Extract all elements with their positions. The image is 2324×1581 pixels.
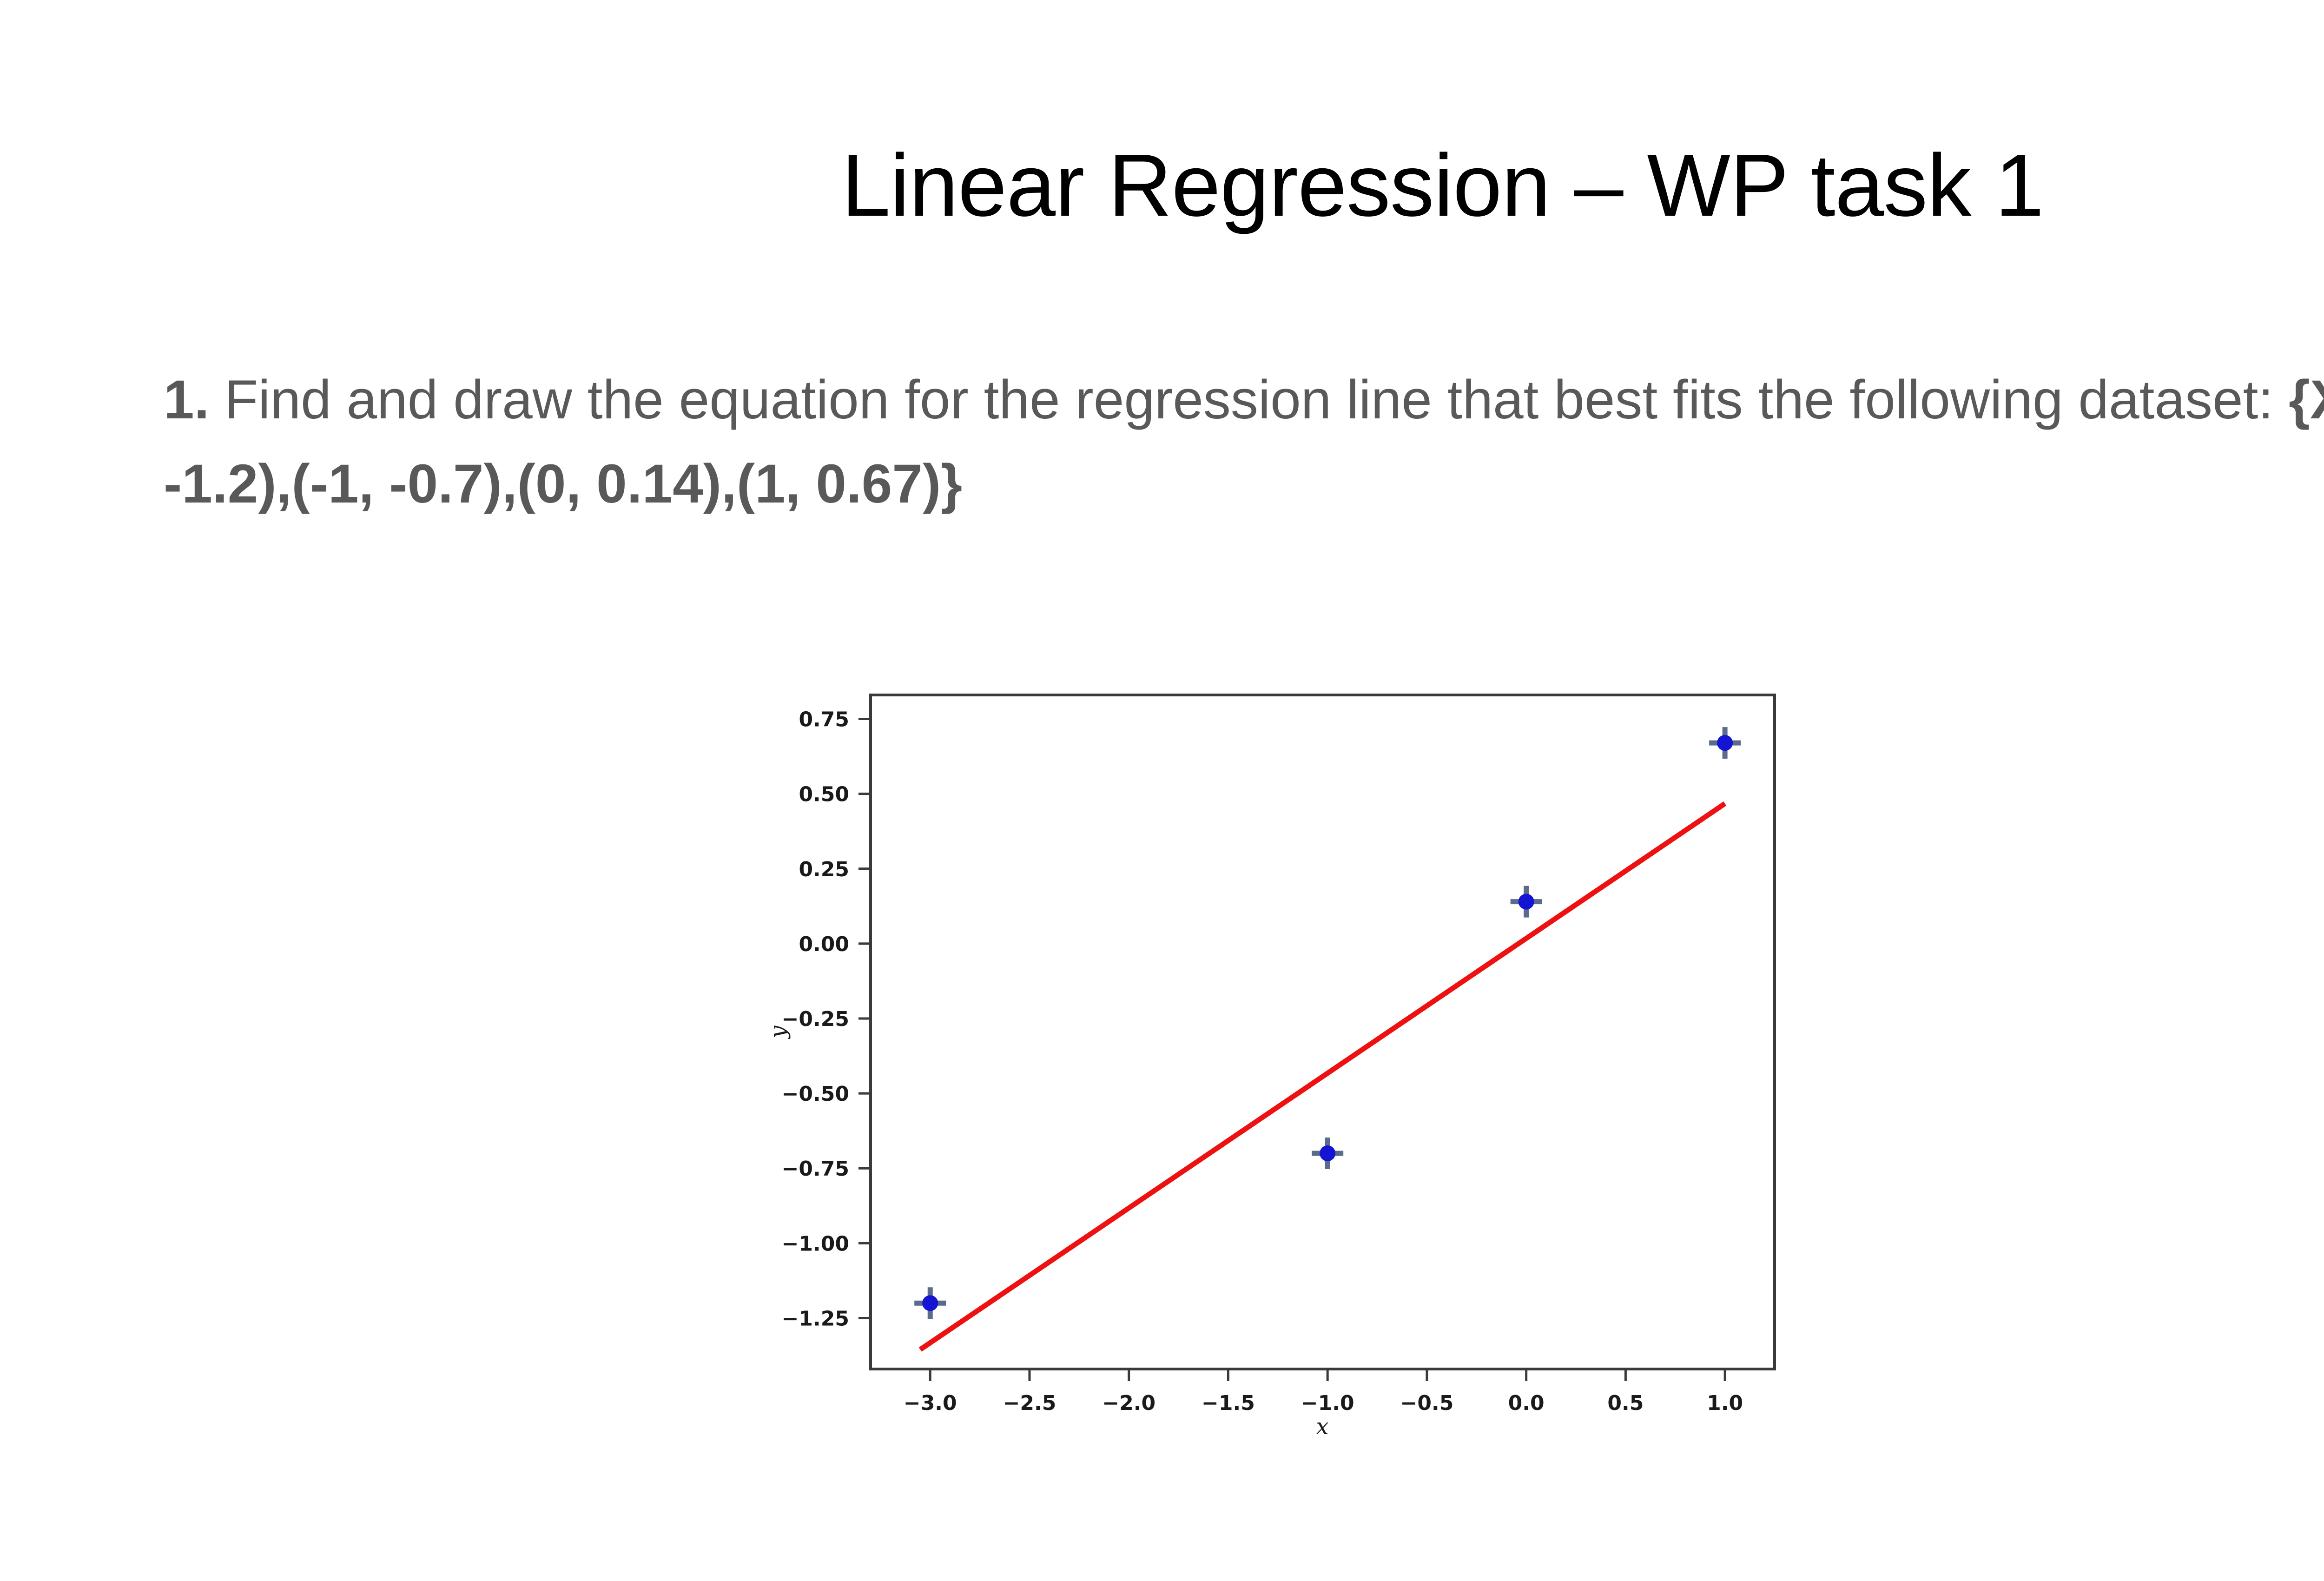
x-tick-label: −1.5	[1202, 1391, 1255, 1415]
x-tick-label: −0.5	[1400, 1391, 1454, 1415]
x-tick-label: 0.5	[1607, 1391, 1644, 1415]
y-tick-label: −0.75	[782, 1157, 849, 1181]
data-point-dot	[1717, 735, 1733, 751]
chart-background	[725, 660, 1841, 1450]
y-tick-label: −1.25	[782, 1307, 849, 1330]
task-instruction: Find and draw the equation for the regre…	[209, 369, 2289, 430]
slide-body-text: 1. Find and draw the equation for the re…	[164, 358, 2324, 526]
x-tick-label: 1.0	[1707, 1391, 1743, 1415]
y-tick-label: 0.50	[799, 783, 849, 807]
page-title: Linear Regression – WP task 1	[0, 139, 2324, 232]
y-tick-label: −1.00	[782, 1232, 849, 1256]
x-axis-label: x	[1316, 1414, 1328, 1440]
data-point-dot	[1320, 1145, 1335, 1161]
regression-chart: −3.0−2.5−2.0−1.5−1.0−0.50.00.51.0 0.750.…	[725, 660, 1841, 1450]
task-number: 1.	[164, 369, 209, 430]
x-tick-label: 0.0	[1508, 1391, 1545, 1415]
y-tick-label: 0.75	[799, 708, 849, 732]
data-point-dot	[1519, 894, 1534, 910]
data-point-dot	[922, 1295, 938, 1311]
x-tick-label: −1.0	[1301, 1391, 1354, 1415]
y-tick-label: 0.25	[799, 858, 849, 881]
y-tick-label: −0.50	[782, 1082, 849, 1106]
x-tick-label: −3.0	[904, 1391, 957, 1415]
x-tick-label: −2.5	[1003, 1391, 1056, 1415]
regression-chart-svg: −3.0−2.5−2.0−1.5−1.0−0.50.00.51.0 0.750.…	[725, 660, 1841, 1450]
y-axis-label: y	[765, 1025, 791, 1039]
y-tick-label: −0.25	[782, 1007, 849, 1031]
y-tick-label: 0.00	[799, 933, 849, 956]
x-tick-label: −2.0	[1102, 1391, 1155, 1415]
